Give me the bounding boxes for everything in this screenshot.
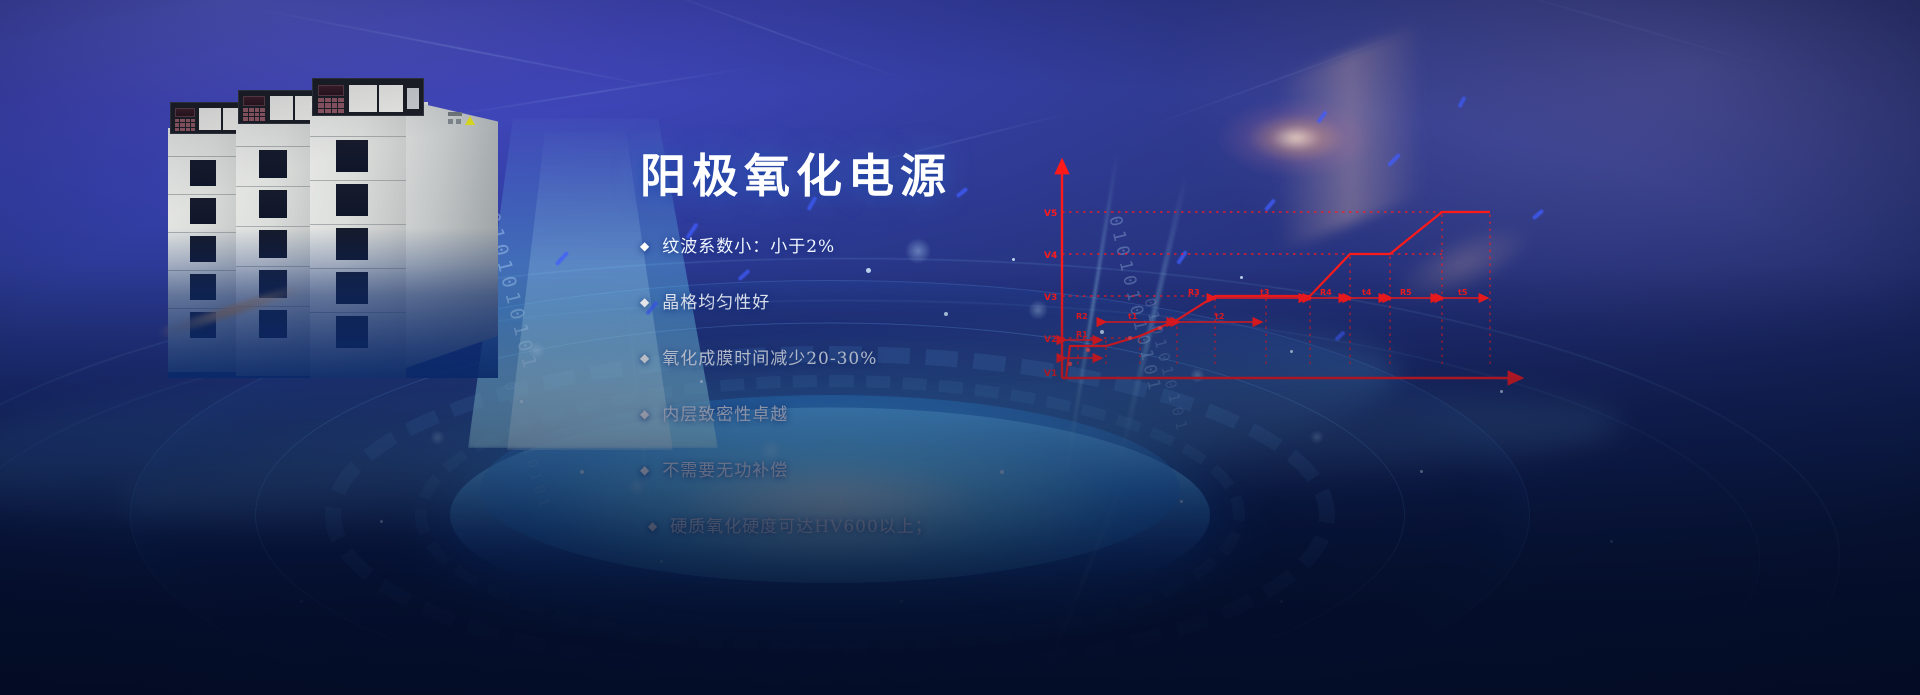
banner-root: 010101010101 010101010101 0101010101 010… <box>0 0 1920 695</box>
vignette-overlay <box>0 0 1920 695</box>
